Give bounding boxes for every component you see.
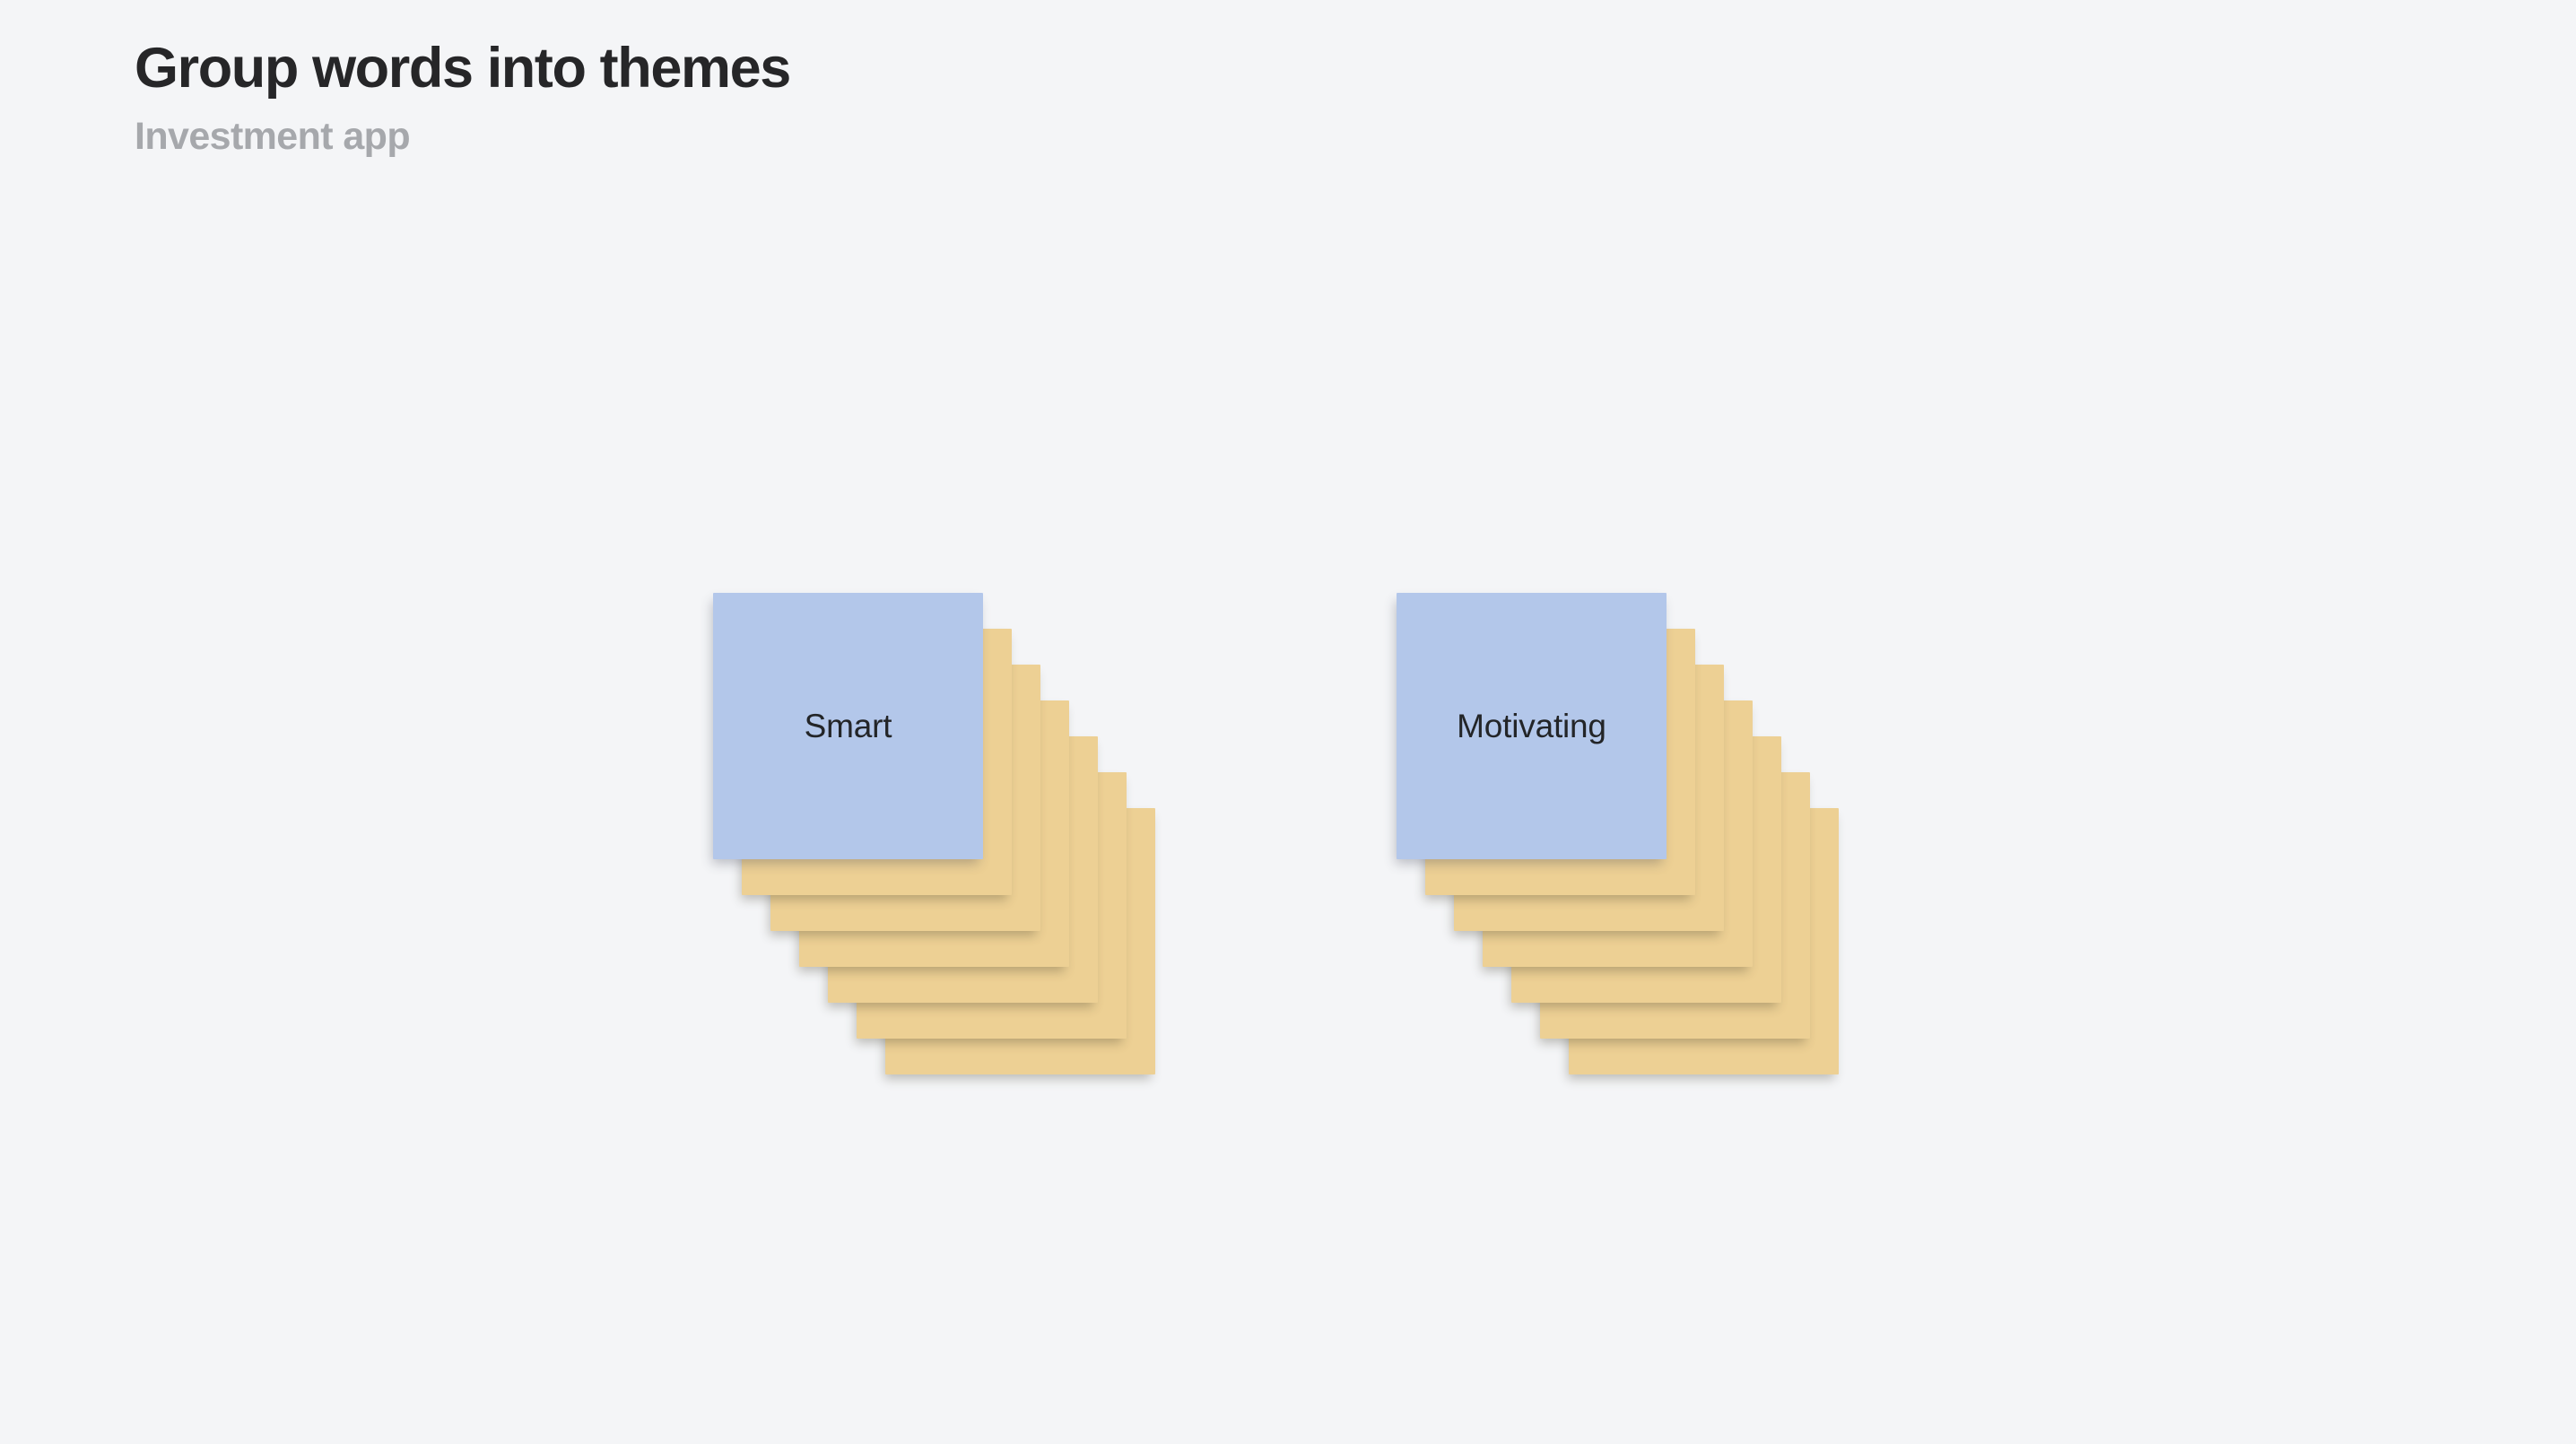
card-stacks-area: Smart Motivating <box>0 0 2576 1444</box>
card-stack-motivating[interactable]: Motivating <box>1397 593 1899 1095</box>
card-label: Motivating <box>1457 708 1606 745</box>
top-card[interactable]: Smart <box>713 593 983 859</box>
slide-canvas: Group words into themes Investment app S… <box>0 0 2576 1444</box>
card-stack-smart[interactable]: Smart <box>713 593 1215 1095</box>
top-card[interactable]: Motivating <box>1397 593 1667 859</box>
card-label: Smart <box>805 708 892 745</box>
